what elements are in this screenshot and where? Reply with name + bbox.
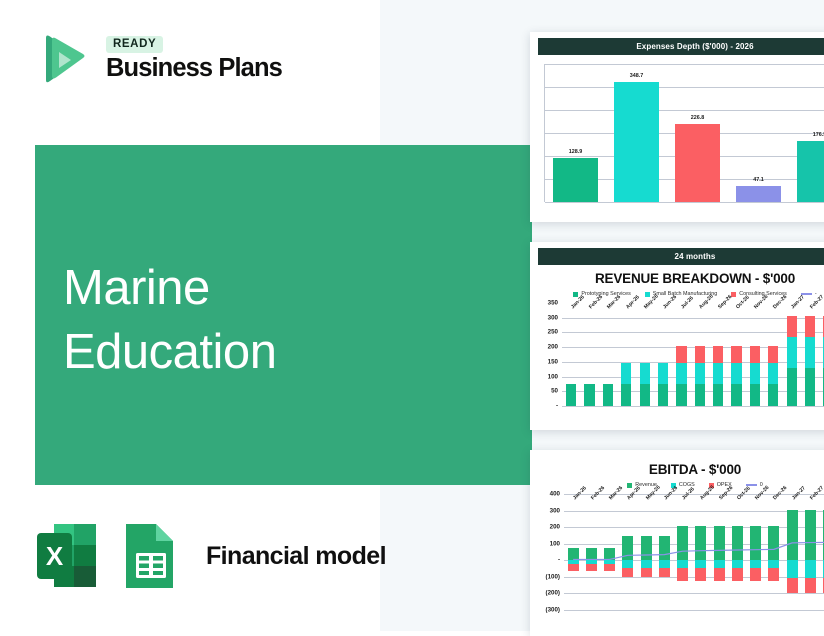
title-card: Marine Education bbox=[35, 145, 532, 485]
stacked-bar-segment bbox=[731, 384, 741, 406]
bar bbox=[614, 82, 659, 202]
svg-text:X: X bbox=[46, 541, 64, 571]
page-title: Marine Education bbox=[63, 257, 276, 384]
page-title-line-1: Marine bbox=[63, 257, 276, 321]
stacked-bar-segment bbox=[713, 363, 723, 384]
stacked-bar-segment bbox=[658, 384, 668, 406]
stacked-bar-segment bbox=[640, 363, 650, 384]
gridline bbox=[545, 110, 824, 111]
y-axis-tick: 400 bbox=[550, 491, 560, 498]
y-axis-tick: 50 bbox=[551, 388, 558, 395]
y-axis-tick: (100) bbox=[546, 573, 560, 580]
bar bbox=[553, 158, 598, 202]
chart-panel-expenses[interactable]: Expenses Depth ($'000) - 2026 128.9348.7… bbox=[530, 32, 824, 222]
stacked-bar-segment bbox=[787, 368, 797, 406]
footer-label: Financial model bbox=[206, 542, 386, 571]
bar bbox=[675, 124, 720, 202]
stacked-bar-segment bbox=[805, 368, 815, 406]
legend-swatch-icon bbox=[573, 292, 578, 297]
stacked-bar-segment bbox=[676, 346, 686, 364]
y-axis-tick: 200 bbox=[548, 344, 558, 351]
gridline bbox=[545, 64, 824, 65]
gridline bbox=[545, 87, 824, 88]
page-title-line-2: Education bbox=[63, 321, 276, 385]
ready-badge: READY bbox=[106, 36, 163, 53]
stacked-bar-segment bbox=[713, 346, 723, 364]
stacked-bar-segment bbox=[713, 384, 723, 406]
stacked-bar-segment bbox=[621, 363, 631, 384]
stacked-bar-segment bbox=[787, 316, 797, 337]
y-axis-tick: (300) bbox=[546, 607, 560, 614]
bar-value-label: 348.7 bbox=[630, 73, 644, 79]
stacked-bar-segment bbox=[658, 363, 668, 384]
y-axis-tick: 200 bbox=[550, 524, 560, 531]
y-axis-tick: 100 bbox=[550, 540, 560, 547]
bar-value-label: 128.9 bbox=[569, 149, 583, 155]
stacked-bar-segment bbox=[805, 316, 815, 337]
y-axis-tick: - bbox=[556, 403, 558, 410]
revenue-chart-banner: 24 months bbox=[538, 248, 824, 265]
stacked-bar-segment bbox=[768, 384, 778, 406]
legend-swatch-icon bbox=[627, 483, 632, 488]
gridline bbox=[564, 610, 824, 611]
stacked-bar-segment bbox=[750, 384, 760, 406]
gridline bbox=[562, 406, 824, 407]
revenue-plot-area: 35030025020015010050-Jan-26Feb-26Mar-26A… bbox=[562, 303, 824, 406]
stacked-bar-segment bbox=[695, 363, 705, 384]
y-axis-tick: 100 bbox=[548, 373, 558, 380]
y-axis-tick: 300 bbox=[548, 314, 558, 321]
play-triangle-logo-icon bbox=[34, 30, 92, 88]
stacked-bar-segment bbox=[603, 384, 613, 406]
gridline bbox=[545, 202, 824, 203]
bar-value-label: 226.8 bbox=[691, 115, 705, 121]
ebitda-chart-title: EBITDA - $'000 bbox=[530, 462, 824, 477]
gridline bbox=[562, 362, 824, 363]
y-axis-tick: (200) bbox=[546, 590, 560, 597]
stacked-bar-segment bbox=[750, 363, 760, 384]
footer-bar: X Financial model bbox=[34, 520, 386, 592]
expenses-chart-title: Expenses Depth ($'000) - 2026 bbox=[538, 38, 824, 55]
stacked-bar-segment bbox=[768, 363, 778, 384]
stacked-bar-segment bbox=[787, 337, 797, 368]
chart-panel-revenue[interactable]: 24 months REVENUE BREAKDOWN - $'000 Prot… bbox=[530, 242, 824, 430]
brand-lockup: READY Business Plans bbox=[34, 30, 282, 88]
bar bbox=[736, 186, 781, 202]
google-sheets-icon bbox=[120, 520, 182, 592]
excel-icon: X bbox=[34, 520, 100, 592]
gridline bbox=[562, 318, 824, 319]
bar-value-label: 176.5 bbox=[813, 132, 824, 138]
y-axis-tick: 150 bbox=[548, 358, 558, 365]
legend-item: Consulting Services bbox=[731, 291, 787, 297]
y-axis-tick: 300 bbox=[550, 507, 560, 514]
gridline bbox=[562, 303, 824, 304]
stacked-bar-segment bbox=[695, 346, 705, 364]
gridline bbox=[562, 377, 824, 378]
stacked-bar-segment bbox=[805, 337, 815, 368]
legend-swatch-icon bbox=[731, 292, 736, 297]
legend-label: Prototyping Services bbox=[581, 291, 630, 297]
bar bbox=[797, 141, 824, 202]
gridline bbox=[562, 332, 824, 333]
legend-swatch-icon bbox=[645, 292, 650, 297]
expenses-plot-area: 128.9348.7226.847.1176.5 bbox=[544, 64, 824, 202]
legend-label: - bbox=[815, 291, 817, 297]
y-axis-tick: 350 bbox=[548, 300, 558, 307]
revenue-chart-title: REVENUE BREAKDOWN - $'000 bbox=[530, 271, 824, 286]
gridline bbox=[562, 347, 824, 348]
ebitda-plot-area: 400300200100-(100)(200)(300)Jan-26Feb-26… bbox=[564, 494, 824, 610]
ebitda-zero-line bbox=[564, 494, 824, 610]
stacked-bar-segment bbox=[676, 384, 686, 406]
stacked-bar-segment bbox=[640, 384, 650, 406]
stacked-bar-segment bbox=[566, 384, 576, 406]
gridline bbox=[562, 391, 824, 392]
y-axis-tick: 250 bbox=[548, 329, 558, 336]
brand-name: Business Plans bbox=[106, 55, 282, 82]
stacked-bar-segment bbox=[584, 384, 594, 406]
stacked-bar-segment bbox=[731, 346, 741, 364]
stacked-bar-segment bbox=[750, 346, 760, 364]
stacked-bar-segment bbox=[695, 384, 705, 406]
stacked-bar-segment bbox=[676, 363, 686, 384]
chart-panel-ebitda[interactable]: EBITDA - $'000 RevenueCOGSOPEX0 40030020… bbox=[530, 450, 824, 636]
y-axis-tick: - bbox=[558, 557, 560, 564]
stacked-bar-segment bbox=[731, 363, 741, 384]
legend-item: Revenue bbox=[627, 482, 657, 488]
stacked-bar-segment bbox=[621, 384, 631, 406]
bar-value-label: 47.1 bbox=[753, 177, 764, 183]
stacked-bar-segment bbox=[768, 346, 778, 364]
